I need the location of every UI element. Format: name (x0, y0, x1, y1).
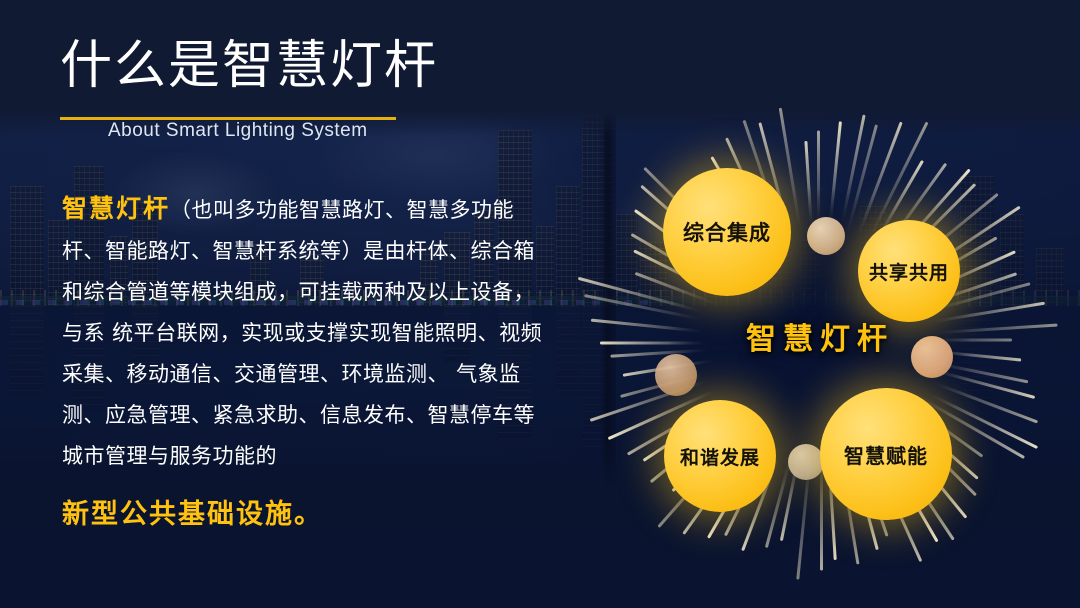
lead-term: 智慧灯杆 (62, 194, 170, 223)
page-subtitle: About Smart Lighting System (108, 120, 368, 142)
node-comprehensive-integration[interactable]: 综合集成 (663, 168, 791, 296)
closing-statement: 新型公共基础设施。 (62, 492, 323, 531)
node-share-and-use[interactable]: 共享共用 (858, 220, 960, 322)
node-label: 智慧赋能 (844, 440, 928, 469)
slide-root: 什么是智慧灯杆 About Smart Lighting System 智慧灯杆… (0, 0, 1080, 608)
paragraph-text: （也叫多功能智慧路灯、智慧多功能杆、智能路灯、智慧杆系统等）是由杆体、综合箱和综… (62, 198, 542, 468)
page-title: 什么是智慧灯杆 (60, 36, 438, 96)
smart-pole-diagram: 综合集成 共享共用 和谐发展 智慧赋能 智慧灯杆 (600, 110, 1040, 570)
decorative-sphere-icon (655, 354, 697, 396)
diagram-center-label: 智慧灯杆 (600, 314, 1040, 358)
decorative-sphere-icon (788, 444, 824, 480)
body-paragraph: 智慧灯杆（也叫多功能智慧路灯、智慧多功能杆、智能路灯、智慧杆系统等）是由杆体、综… (62, 188, 552, 477)
node-label: 综合集成 (683, 217, 771, 247)
node-smart-empowerment[interactable]: 智慧赋能 (820, 388, 952, 520)
node-label: 和谐发展 (680, 443, 760, 470)
decorative-sphere-icon (807, 217, 845, 255)
node-label: 共享共用 (869, 258, 949, 285)
node-harmonious-development[interactable]: 和谐发展 (664, 400, 776, 512)
